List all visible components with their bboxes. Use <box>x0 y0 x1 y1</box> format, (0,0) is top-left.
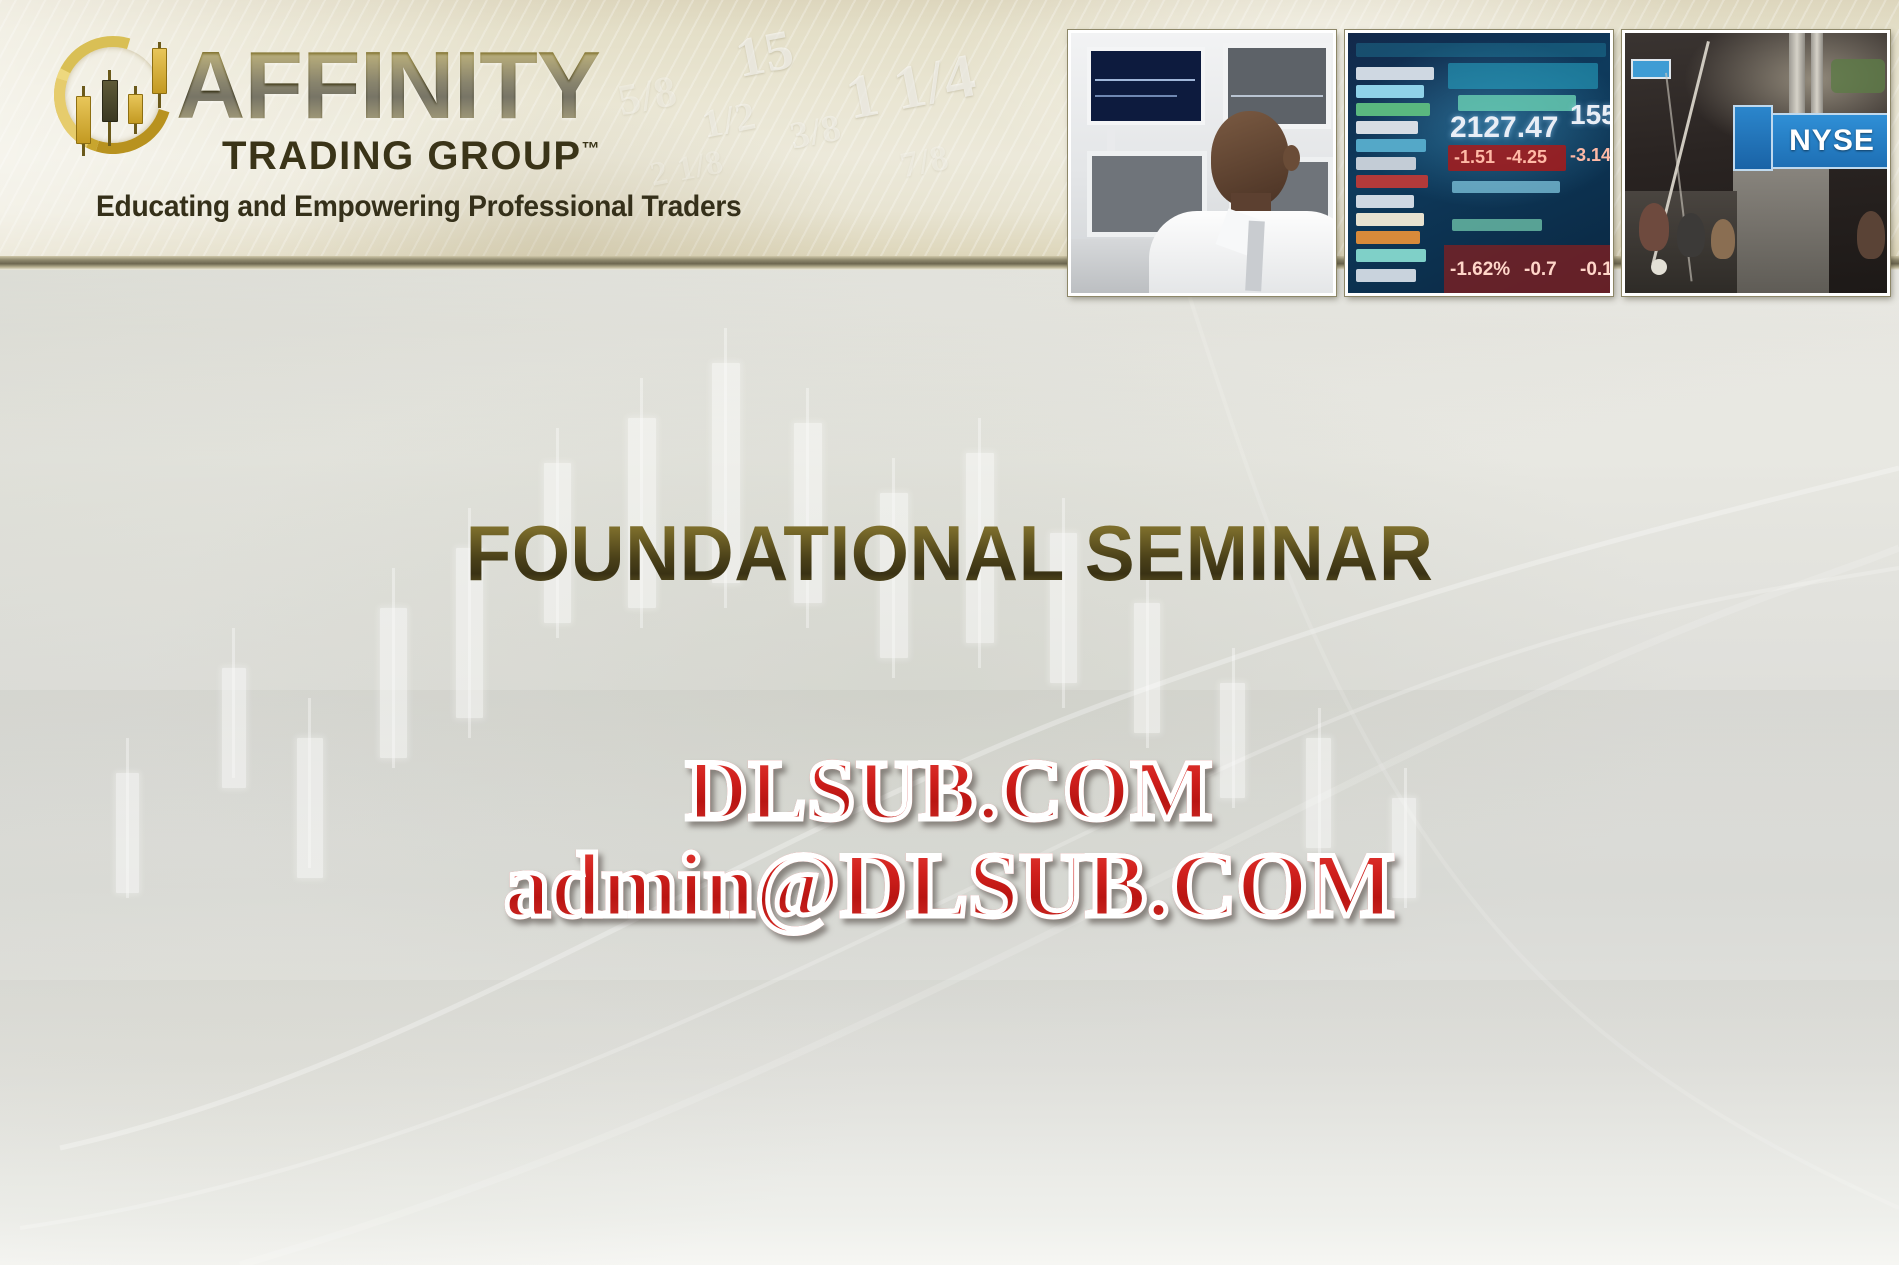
trademark-icon: ™ <box>582 139 602 159</box>
market-change-3: -3.14 <box>1570 145 1610 166</box>
market-percent-2: -0.7 <box>1524 259 1557 281</box>
market-secondary-value: 155 <box>1570 99 1610 131</box>
nyse-sign: NYSE <box>1771 113 1887 169</box>
trader-at-desk-photo <box>1068 30 1336 296</box>
logo-brand-subtitle: TRADING GROUP™ <box>222 134 601 179</box>
market-change-1: -1.51 <box>1454 147 1495 168</box>
market-percent-3: -0.1 <box>1580 259 1610 281</box>
presentation-slide: 15 1 1/4 1/2 3/8 5/8 7/8 2 1/8 AFFINITY <box>0 0 1899 1265</box>
nyse-trading-floor-photo: NYSE <box>1622 30 1890 296</box>
logo-tagline: Educating and Empowering Professional Tr… <box>96 190 741 224</box>
candlestick-arc-logo-icon <box>48 30 180 162</box>
watermark-email: admin@DLSUB.COM <box>0 832 1899 938</box>
market-percent-1: -1.62% <box>1450 259 1510 281</box>
logo-brand-name: AFFINITY <box>176 40 600 132</box>
logo-brand-subtitle-text: TRADING GROUP <box>222 134 582 178</box>
market-data-board-photo: 2127.47 155 -1.51 -4.25 -3.14 -1.62% -0.… <box>1345 30 1613 296</box>
header-photo-strip: 2127.47 155 -1.51 -4.25 -3.14 -1.62% -0.… <box>1068 30 1890 296</box>
affinity-logo: AFFINITY TRADING GROUP™ Educating and Em… <box>48 22 648 202</box>
page-title: FOUNDATIONAL SEMINAR <box>38 508 1861 599</box>
market-index-value: 2127.47 <box>1450 111 1558 145</box>
market-change-2: -4.25 <box>1506 147 1547 168</box>
header-ghost-number-0: 15 <box>730 17 799 91</box>
watermark-site-text: DLSUB.COM <box>686 742 1213 838</box>
nyse-sign-text: NYSE <box>1789 124 1875 158</box>
watermark-email-text: admin@DLSUB.COM <box>504 834 1395 936</box>
watermark-site: DLSUB.COM <box>0 740 1899 840</box>
